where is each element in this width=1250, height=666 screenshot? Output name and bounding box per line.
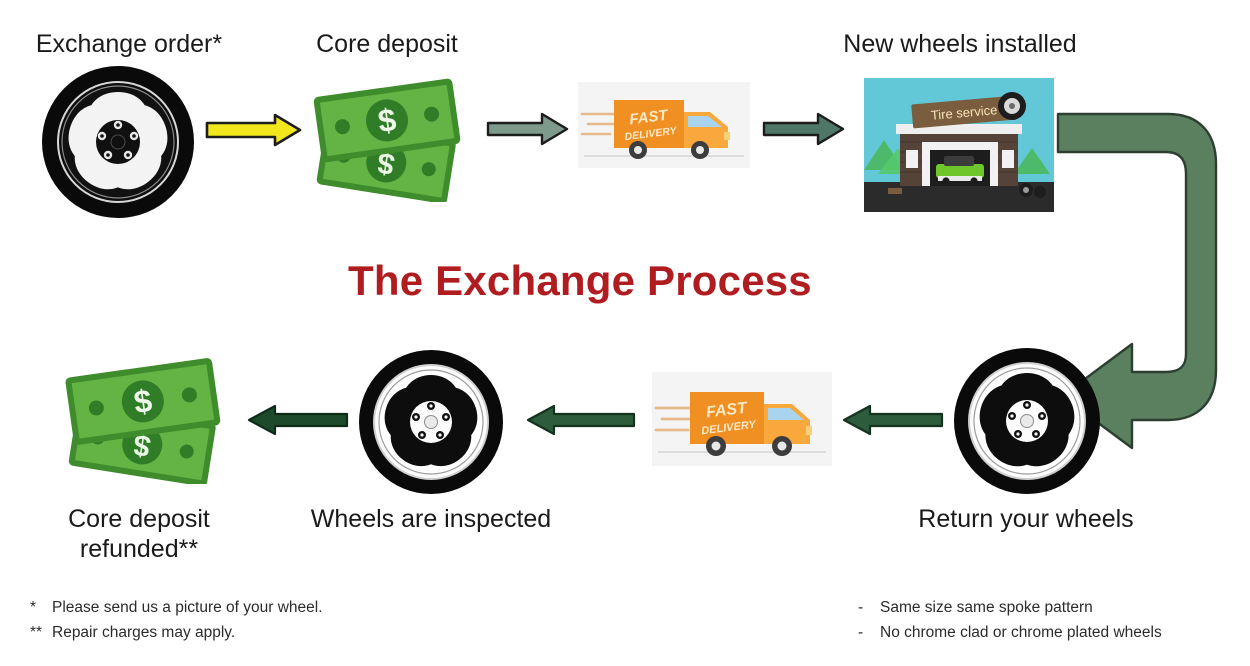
green-arrow-left-3 xyxy=(245,403,349,437)
green-arrow-left-1 xyxy=(840,403,944,437)
label-return-your-wheels: Return your wheels xyxy=(890,505,1162,535)
label-core-deposit-refunded-line1: Core deposit xyxy=(14,505,264,535)
sage-arrow-right-1 xyxy=(486,110,570,148)
label-exchange-order: Exchange order* xyxy=(0,30,258,60)
silver-wheel-icon-return xyxy=(952,348,1102,494)
exchange-process-diagram: Exchange order* xyxy=(0,0,1250,666)
footnote-right-1: -Same size same spoke pattern xyxy=(858,595,1093,620)
footnote-right-1-text: Same size same spoke pattern xyxy=(880,599,1093,616)
tire-service-shop-icon: Tire service xyxy=(864,78,1054,212)
black-wheel-icon xyxy=(40,66,196,218)
footnote-left-1-marker: * xyxy=(30,595,52,620)
fast-delivery-truck-icon-1: FAST DELIVERY xyxy=(578,82,750,168)
label-new-wheels-installed: New wheels installed xyxy=(790,30,1130,60)
label-core-deposit: Core deposit xyxy=(268,30,506,60)
label-core-deposit-refunded-line2: refunded** xyxy=(14,535,264,565)
footnote-right-2: -No chrome clad or chrome plated wheels xyxy=(858,620,1162,645)
yellow-arrow-right xyxy=(205,112,303,148)
footnote-left-1-text: Please send us a picture of your wheel. xyxy=(52,599,323,616)
silver-wheel-icon-inspect xyxy=(358,350,504,494)
page-title: The Exchange Process xyxy=(348,257,812,305)
footnote-right-2-text: No chrome clad or chrome plated wheels xyxy=(880,624,1162,641)
dollar-bills-icon-refund: $ $ xyxy=(56,348,236,484)
footnote-left-2-text: Repair charges may apply. xyxy=(52,624,235,641)
footnote-right-2-marker: - xyxy=(858,620,880,645)
footnote-left-2: **Repair charges may apply. xyxy=(30,620,235,645)
dollar-bills-icon: $ $ xyxy=(306,68,474,202)
footnote-left-1: *Please send us a picture of your wheel. xyxy=(30,595,323,620)
fast-delivery-truck-icon-2: FAST DELIVERY xyxy=(652,372,832,466)
sage-arrow-right-2 xyxy=(762,110,846,148)
footnote-left-2-marker: ** xyxy=(30,620,52,645)
label-wheels-are-inspected: Wheels are inspected xyxy=(298,505,564,535)
green-arrow-left-2 xyxy=(524,403,636,437)
footnote-right-1-marker: - xyxy=(858,595,880,620)
